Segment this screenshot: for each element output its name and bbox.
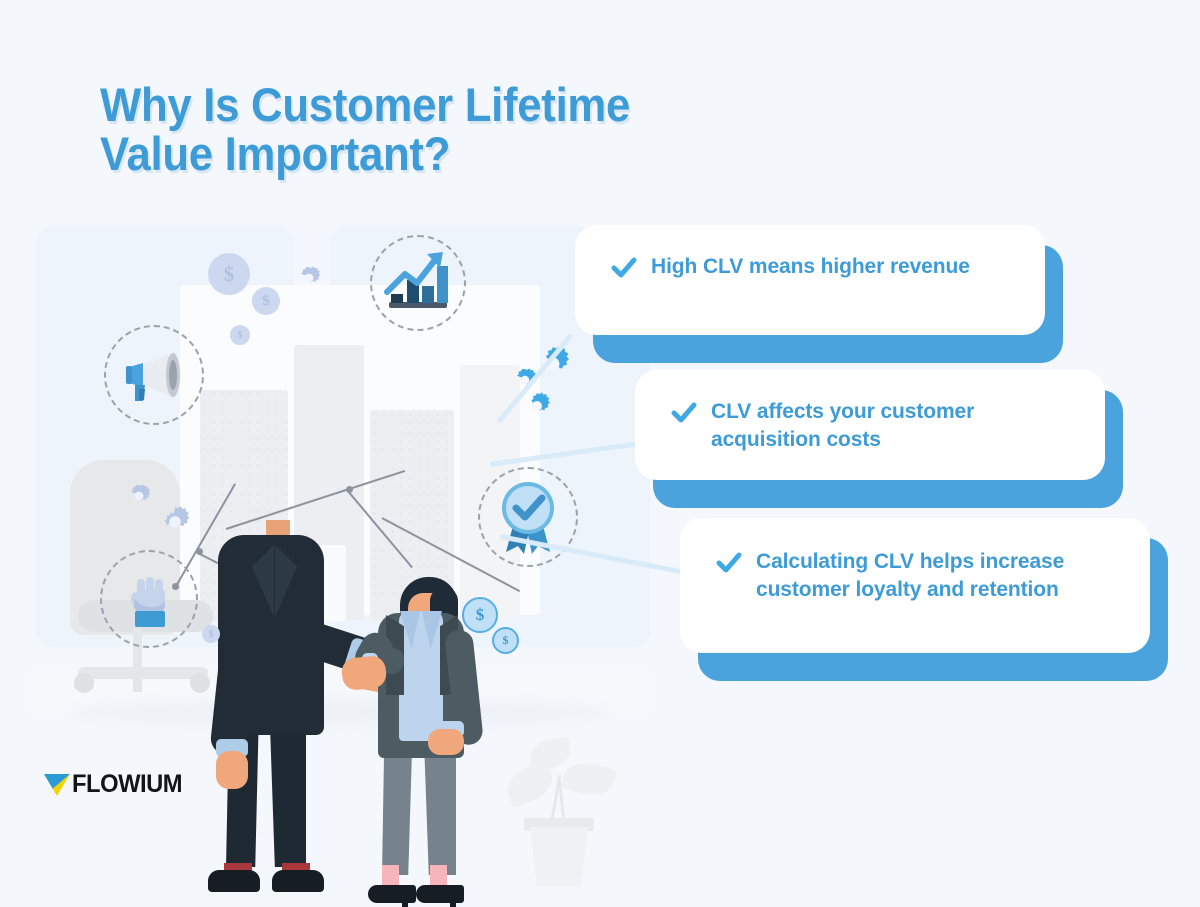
flowium-mark-icon — [44, 774, 70, 796]
brand-logo[interactable]: FLOWIUM — [44, 770, 188, 799]
gear-icon — [126, 483, 152, 514]
card-surface[interactable]: CLV affects your customer acquisition co… — [635, 370, 1105, 480]
man-shoe-left — [208, 870, 260, 892]
raised-fist-icon — [102, 552, 196, 646]
floor-shadow — [70, 697, 610, 727]
dollar-coin-icon: $ — [252, 287, 280, 315]
plant-leaf — [529, 737, 572, 771]
dollar-coin-icon: $ — [492, 627, 519, 654]
card-label: High CLV means higher revenue — [651, 253, 970, 281]
page-title: Why Is Customer Lifetime Value Important… — [100, 80, 751, 178]
node-dot — [196, 548, 203, 555]
dollar-coin-icon: $ — [462, 597, 498, 633]
check-icon — [611, 257, 637, 284]
man-shoe-right — [272, 870, 324, 892]
page-title-line-1: Why Is Customer Lifetime — [100, 80, 751, 129]
bar-chart-growth-icon — [372, 237, 464, 329]
office-chair-base — [78, 667, 208, 679]
check-icon — [671, 402, 697, 429]
office-chair-wheel — [74, 673, 94, 693]
plant-leaf — [561, 757, 618, 802]
card-label: CLV affects your customer acquisition co… — [711, 398, 1079, 454]
card-surface[interactable]: High CLV means higher revenue — [575, 225, 1045, 335]
node-dot — [346, 486, 353, 493]
bubble-bar-chart — [370, 235, 466, 331]
megaphone-icon — [106, 327, 202, 423]
woman-shoe-left — [368, 885, 416, 903]
bubble-megaphone — [104, 325, 204, 425]
dollar-coin-icon: $ — [208, 253, 250, 295]
dollar-coin-icon: $ — [202, 625, 220, 643]
woman-hand-right — [428, 729, 464, 755]
dollar-coin-icon: $ — [230, 325, 250, 345]
bubble-fist — [100, 550, 198, 648]
card-surface[interactable]: Calculating CLV helps increase customer … — [680, 518, 1150, 653]
check-icon — [716, 552, 742, 579]
brand-logo-text: FLOWIUM — [72, 770, 182, 799]
gear-icon — [296, 265, 322, 296]
bubble-award-badge — [478, 467, 578, 567]
infographic-canvas: Why Is Customer Lifetime Value Important… — [0, 0, 1200, 830]
man-hand-left — [216, 751, 248, 789]
illustration: $ $ $ $ $ $ — [30, 215, 650, 735]
plant-pot — [530, 827, 588, 887]
gear-icon — [158, 505, 192, 544]
woman-blouse — [399, 611, 443, 741]
card-label: Calculating CLV helps increase customer … — [756, 548, 1124, 604]
woman-shoe-right — [416, 885, 464, 903]
page-title-line-2: Value Important? — [100, 129, 751, 178]
office-chair-wheel — [190, 673, 210, 693]
gear-icon — [522, 391, 552, 426]
